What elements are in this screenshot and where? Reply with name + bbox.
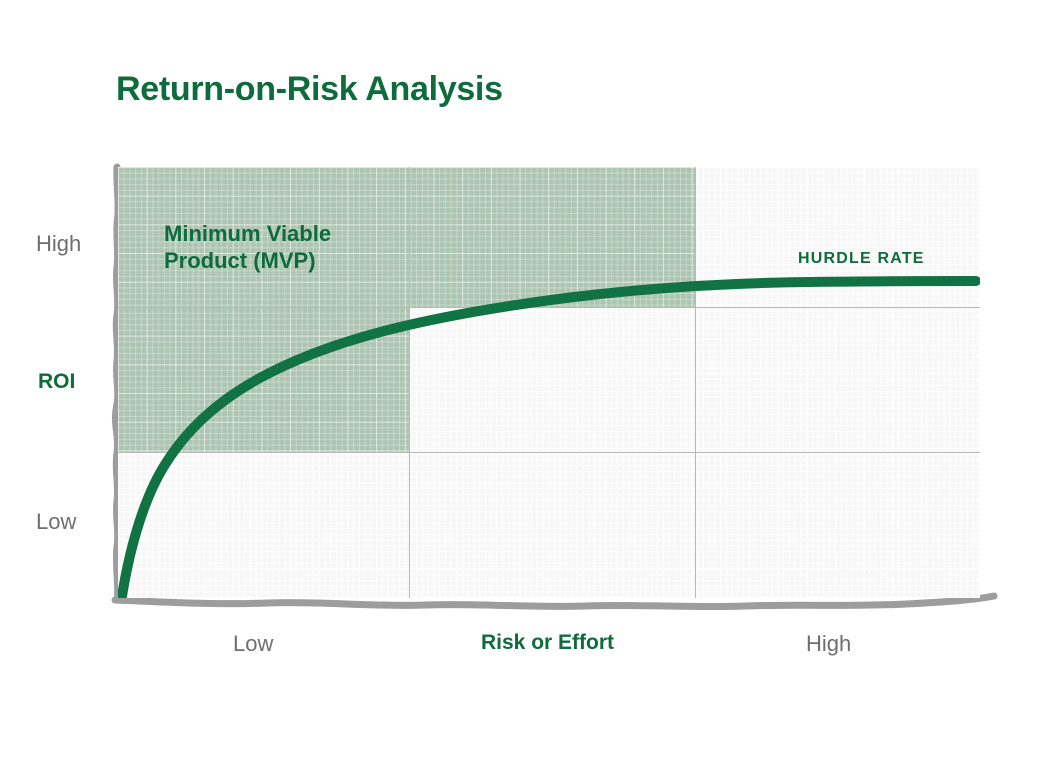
x-axis-title: Risk or Effort: [481, 631, 614, 655]
page-title: Return-on-Risk Analysis: [116, 70, 503, 109]
y-axis-tick-low: Low: [36, 509, 76, 535]
x-axis-tick-high: High: [806, 631, 851, 657]
y-axis-title: ROI: [38, 370, 75, 394]
y-axis-tick-high: High: [36, 231, 81, 257]
plot-area: Minimum Viable Product (MVP) HURDLE RATE: [118, 167, 980, 598]
mvp-annotation-label: Minimum Viable Product (MVP): [164, 221, 404, 275]
x-axis-tick-low: Low: [233, 631, 273, 657]
hurdle-rate-curve-path: [122, 281, 976, 596]
hurdle-rate-annotation-label: HURDLE RATE: [798, 249, 925, 269]
chart-canvas: Return-on-Risk Analysis Minimum Viable P…: [0, 0, 1058, 776]
